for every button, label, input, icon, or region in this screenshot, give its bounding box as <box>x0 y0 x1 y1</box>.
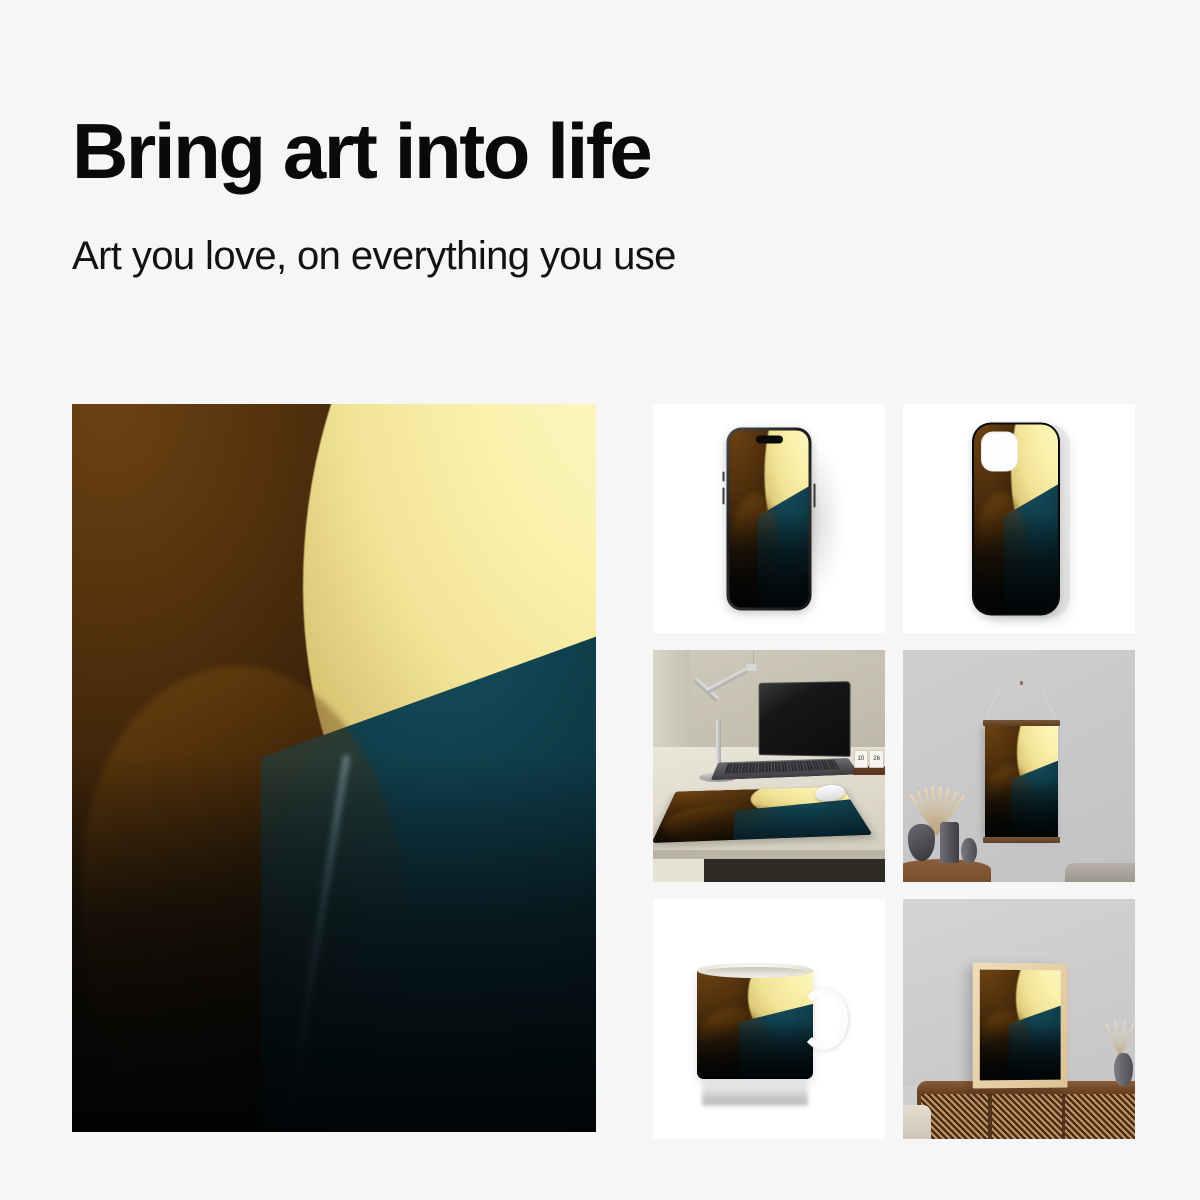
pampas-grass <box>903 759 970 833</box>
dynamic-island-icon <box>756 435 783 443</box>
ceramic-vase <box>1114 1053 1133 1087</box>
page-subtitle: Art you love, on everything you use <box>72 234 972 278</box>
mug-mockup[interactable] <box>653 899 885 1139</box>
abstract-gradient-artwork <box>72 404 596 1132</box>
hanging-canvas-product <box>985 725 1058 838</box>
tall-ceramic-vase <box>940 822 959 864</box>
mug-reflection <box>702 1079 809 1105</box>
artwork-bottom-shadow <box>974 515 1058 613</box>
phone-case-device <box>972 422 1060 615</box>
flip-calendar-right-card: 26 <box>869 750 883 769</box>
small-ceramic-vase <box>961 838 977 864</box>
phone-screen <box>730 430 809 607</box>
phone-case-scene <box>903 404 1135 633</box>
wall-hook-icon <box>1020 681 1023 685</box>
header: Bring art into life Art you love, on eve… <box>72 112 972 278</box>
framed-print-scene <box>903 899 1135 1139</box>
mug-handle <box>799 988 848 1050</box>
phone-silent-switch <box>723 471 725 481</box>
hanging-canvas-scene <box>903 650 1135 882</box>
hero-artwork-preview[interactable] <box>72 404 596 1132</box>
sideboard-chevron-doors <box>921 1094 1135 1139</box>
abstract-gradient-artwork <box>730 430 809 607</box>
promo-page: Bring art into life Art you love, on eve… <box>0 0 1200 1200</box>
framed-print-product <box>972 962 1067 1088</box>
armchair <box>903 1105 931 1139</box>
abstract-gradient-artwork <box>697 969 813 1079</box>
canvas-rail-bottom <box>983 837 1060 843</box>
sideboard-door-divider <box>1062 1094 1066 1139</box>
phone-scene <box>653 404 885 633</box>
mug-scene <box>653 899 885 1139</box>
phone-wallpaper-mockup[interactable] <box>653 404 885 633</box>
abstract-gradient-artwork <box>985 725 1058 838</box>
canvas-rail-top <box>983 720 1060 726</box>
phone-device <box>727 427 812 610</box>
camera-cutout-icon <box>981 431 1018 471</box>
framed-print-mockup[interactable] <box>903 899 1135 1139</box>
phone-case-mockup[interactable] <box>903 404 1135 633</box>
laptop-screen <box>759 682 851 758</box>
artwork-bottom-shadow <box>730 515 809 607</box>
flip-calendar-left-card: 10 <box>854 750 868 769</box>
abstract-gradient-artwork <box>980 970 1060 1081</box>
sideboard-door-divider <box>988 1094 992 1139</box>
desk-mat-mockup[interactable]: 10 26 <box>653 650 885 882</box>
page-title: Bring art into life <box>72 112 972 190</box>
desk-lower-panel <box>653 859 704 882</box>
phone-power-button <box>814 483 816 507</box>
phone-case-side-button <box>972 474 973 490</box>
dried-grass <box>1105 1005 1133 1058</box>
walnut-sideboard <box>917 1081 1135 1139</box>
artwork-bottom-shadow <box>72 753 596 1132</box>
frame-artwork-area <box>980 970 1060 1081</box>
mockup-grid: 10 26 <box>653 404 1135 1137</box>
sofa <box>1065 863 1135 882</box>
desk-scene: 10 26 <box>653 650 885 882</box>
mug-printed-surface <box>697 969 813 1079</box>
artwork-bottom-shadow <box>697 1022 813 1079</box>
artwork-bottom-shadow <box>985 779 1058 838</box>
desk-lamp-head <box>746 664 758 671</box>
phone-volume-buttons <box>723 487 725 504</box>
artwork-bottom-shadow <box>980 1023 1060 1081</box>
hanging-canvas-mockup[interactable] <box>903 650 1135 882</box>
